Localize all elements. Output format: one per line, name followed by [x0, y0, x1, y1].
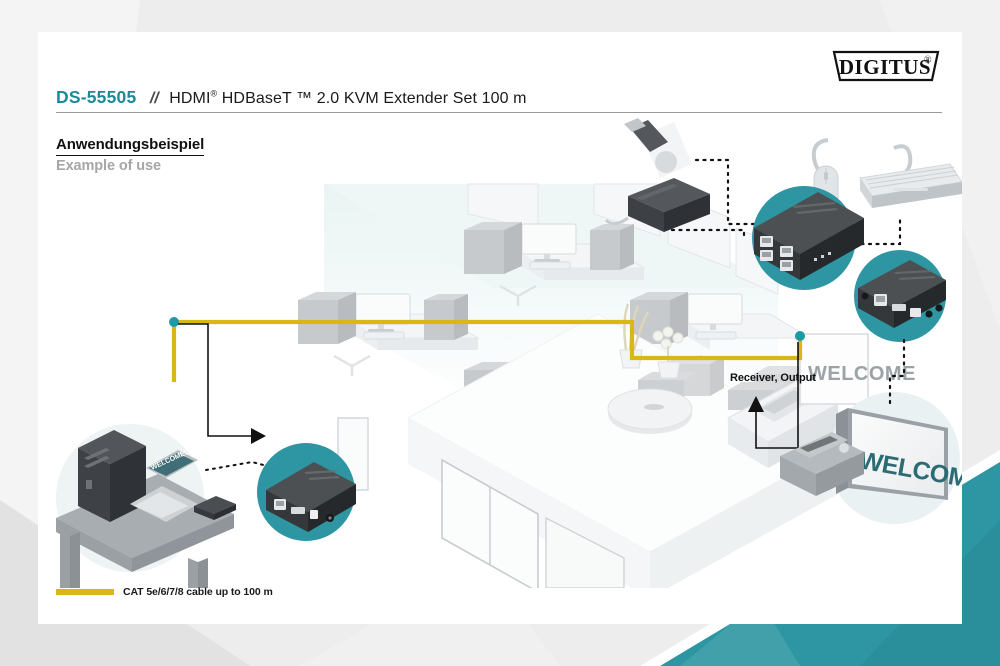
- computer-keyboard: [860, 146, 962, 208]
- arrow-to-sender: [178, 324, 266, 444]
- trademark-mark: ™: [296, 90, 312, 107]
- cable-legend-label: CAT 5e/6/7/8 cable up to 100 m: [123, 586, 273, 598]
- lobby-sign-text: WELCOME: [808, 363, 916, 385]
- logo-registered-mark: ®: [924, 55, 932, 66]
- application-diagram: WELCOME: [38, 118, 962, 588]
- digitus-logo: DIGITUS ®: [832, 48, 940, 84]
- product-title-row: DS-55505 // HDMI® HDBaseT ™ 2.0 KVM Exte…: [56, 87, 942, 113]
- product-name-rest: 2.0 KVM Extender Set 100 m: [317, 90, 527, 107]
- product-sku: DS-55505: [56, 87, 136, 107]
- kvm-receiver-front-callout: [752, 186, 864, 290]
- content-panel: DIGITUS ® DS-55505 // HDMI® HDBaseT ™ 2.…: [38, 32, 962, 624]
- hdmi-registered-mark: ®: [211, 89, 218, 99]
- kvm-receiver-rear-callout: [854, 250, 946, 342]
- title-separator: //: [150, 90, 159, 107]
- product-name: HDMI® HDBaseT ™ 2.0 KVM Extender Set 100…: [169, 90, 526, 107]
- cable-legend: CAT 5e/6/7/8 cable up to 100 m: [56, 586, 273, 598]
- product-name-hdmi: HDMI: [169, 90, 210, 107]
- cable-endpoint-receiver: [795, 331, 805, 341]
- sender-workstation-callout: WELCOME!: [56, 424, 290, 588]
- receiver-label: Receiver, Output: [730, 372, 816, 384]
- usb-flash-drive: [624, 118, 692, 178]
- product-name-hdbaset: HDBaseT: [222, 90, 292, 107]
- logo-text: DIGITUS: [839, 55, 931, 79]
- cable-legend-swatch: [56, 589, 114, 595]
- cable-endpoint-sender: [169, 317, 179, 327]
